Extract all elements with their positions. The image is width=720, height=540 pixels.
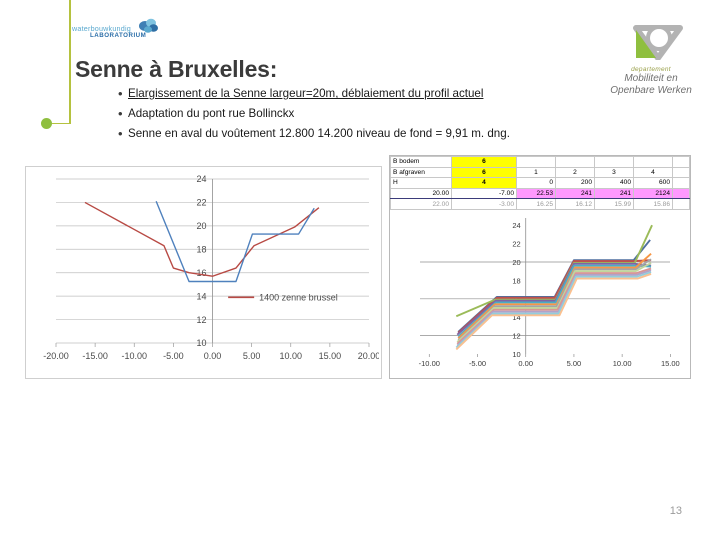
col-header-4: 4 — [634, 167, 673, 178]
yellow-cell-0[interactable]: 6 — [452, 157, 517, 168]
yellow-cell-1[interactable]: 6 — [452, 167, 517, 178]
mow-line-2: Openbare Werken — [596, 85, 706, 97]
left-chart-canvas: 1012141618202224-20.00-15.00-10.00-5.000… — [26, 167, 379, 376]
svg-text:20.00: 20.00 — [358, 351, 379, 361]
decorative-horizontal-line — [52, 123, 70, 125]
svg-text:10.00: 10.00 — [279, 351, 302, 361]
bullet-text: Elargissement de la Senne largeur=20m, d… — [128, 86, 483, 101]
svg-text:22: 22 — [196, 198, 206, 208]
svg-text:15.00: 15.00 — [319, 351, 342, 361]
svg-text:24: 24 — [512, 221, 520, 230]
list-item: • Senne en aval du voûtement 12.800 14.2… — [118, 126, 598, 141]
svg-text:10: 10 — [196, 338, 206, 348]
spreadsheet-grid[interactable]: B bodem 6 B afgraven 6 1 2 3 4 — [390, 156, 690, 206]
col-header-1: 1 — [517, 167, 556, 178]
row-label-h: H — [391, 178, 452, 189]
bullet-marker: • — [118, 126, 128, 141]
svg-text:0.00: 0.00 — [204, 351, 222, 361]
svg-text:-15.00: -15.00 — [82, 351, 108, 361]
svg-text:0.00: 0.00 — [518, 359, 533, 368]
svg-text:12: 12 — [512, 332, 520, 341]
right-spreadsheet-panel: B bodem 6 B afgraven 6 1 2 3 4 — [389, 155, 691, 379]
selected-row-c1: 20.00 — [391, 188, 452, 199]
bullet-marker: • — [118, 86, 128, 101]
yellow-cell-2[interactable]: 4 — [452, 178, 517, 189]
table-row-selected[interactable]: 20.00 -7.00 22.53 241 241 2124 — [391, 188, 690, 199]
decorative-green-dot — [41, 118, 52, 129]
selected-row-cell-4: 2124 — [634, 188, 673, 199]
table-row[interactable]: H 4 0 200 400 600 — [391, 178, 690, 189]
svg-text:20: 20 — [196, 221, 206, 231]
selected-row-c2: -7.00 — [452, 188, 517, 199]
mow-line-1: Mobiliteit en — [596, 73, 706, 85]
empty-cell — [556, 157, 595, 168]
empty-cell — [517, 157, 556, 168]
svg-text:14: 14 — [196, 291, 206, 301]
selected-row-cell-1: 22.53 — [517, 188, 556, 199]
empty-cell — [595, 157, 634, 168]
table-row[interactable]: B afgraven 6 1 2 3 4 — [391, 167, 690, 178]
svg-text:5.00: 5.00 — [567, 359, 582, 368]
svg-text:24: 24 — [196, 174, 206, 184]
row-label-b-bodem: B bodem — [391, 157, 452, 168]
col-value-3: 400 — [595, 178, 634, 189]
svg-text:1400 zenne brussel: 1400 zenne brussel — [259, 293, 338, 303]
right-chart-canvas: 1012141618202224-10.00-5.000.005.0010.00… — [390, 206, 690, 378]
empty-cell — [673, 178, 690, 189]
selected-row-cell-3: 241 — [595, 188, 634, 199]
col-header-2: 2 — [556, 167, 595, 178]
empty-cell — [673, 167, 690, 178]
empty-cell — [634, 157, 673, 168]
selected-row-cell-5 — [673, 188, 690, 199]
col-value-4: 600 — [634, 178, 673, 189]
table-row[interactable]: B bodem 6 — [391, 157, 690, 168]
svg-text:16: 16 — [196, 268, 206, 278]
col-header-3: 3 — [595, 167, 634, 178]
left-cross-section-chart: 1012141618202224-20.00-15.00-10.00-5.000… — [25, 166, 382, 379]
slide-canvas: waterbouwkundig LABORATORIUM departement… — [0, 0, 720, 540]
row-label-b-afgraven: B afgraven — [391, 167, 452, 178]
svg-text:15.00: 15.00 — [661, 359, 680, 368]
svg-text:-5.00: -5.00 — [163, 351, 184, 361]
col-value-2: 200 — [556, 178, 595, 189]
mow-triangle-circle-icon — [596, 24, 706, 60]
svg-text:12: 12 — [196, 315, 206, 325]
bullet-marker: • — [118, 106, 128, 121]
mow-departement-label: departement — [596, 66, 706, 73]
decorative-vertical-line — [69, 0, 71, 124]
bullet-list: • Elargissement de la Senne largeur=20m,… — [118, 86, 598, 146]
svg-text:10.00: 10.00 — [613, 359, 632, 368]
bullet-text: Adaptation du pont rue Bollinckx — [128, 106, 294, 121]
list-item: • Adaptation du pont rue Bollinckx — [118, 106, 598, 121]
svg-text:-10.00: -10.00 — [121, 351, 147, 361]
svg-text:18: 18 — [196, 244, 206, 254]
empty-cell — [673, 157, 690, 168]
svg-text:22: 22 — [512, 240, 520, 249]
page-title: Senne à Bruxelles: — [75, 56, 277, 83]
bullet-text: Senne en aval du voûtement 12.800 14.200… — [128, 126, 510, 141]
right-variants-chart: 1012141618202224-10.00-5.000.005.0010.00… — [390, 206, 690, 378]
svg-text:20: 20 — [512, 258, 520, 267]
svg-text:-10.00: -10.00 — [419, 359, 440, 368]
list-item: • Elargissement de la Senne largeur=20m,… — [118, 86, 598, 101]
selected-row-cell-2: 241 — [556, 188, 595, 199]
svg-text:18: 18 — [512, 276, 520, 285]
svg-text:-20.00: -20.00 — [43, 351, 69, 361]
water-droplets-icon — [134, 18, 160, 34]
page-number: 13 — [670, 505, 682, 517]
svg-text:10: 10 — [512, 350, 520, 359]
mobiliteit-openbare-werken-logo: departement Mobiliteit en Openbare Werke… — [596, 24, 706, 94]
waterbouwkundig-laboratorium-logo: waterbouwkundig LABORATORIUM — [72, 18, 162, 44]
svg-text:-5.00: -5.00 — [469, 359, 486, 368]
svg-text:5.00: 5.00 — [243, 351, 261, 361]
col-value-1: 0 — [517, 178, 556, 189]
